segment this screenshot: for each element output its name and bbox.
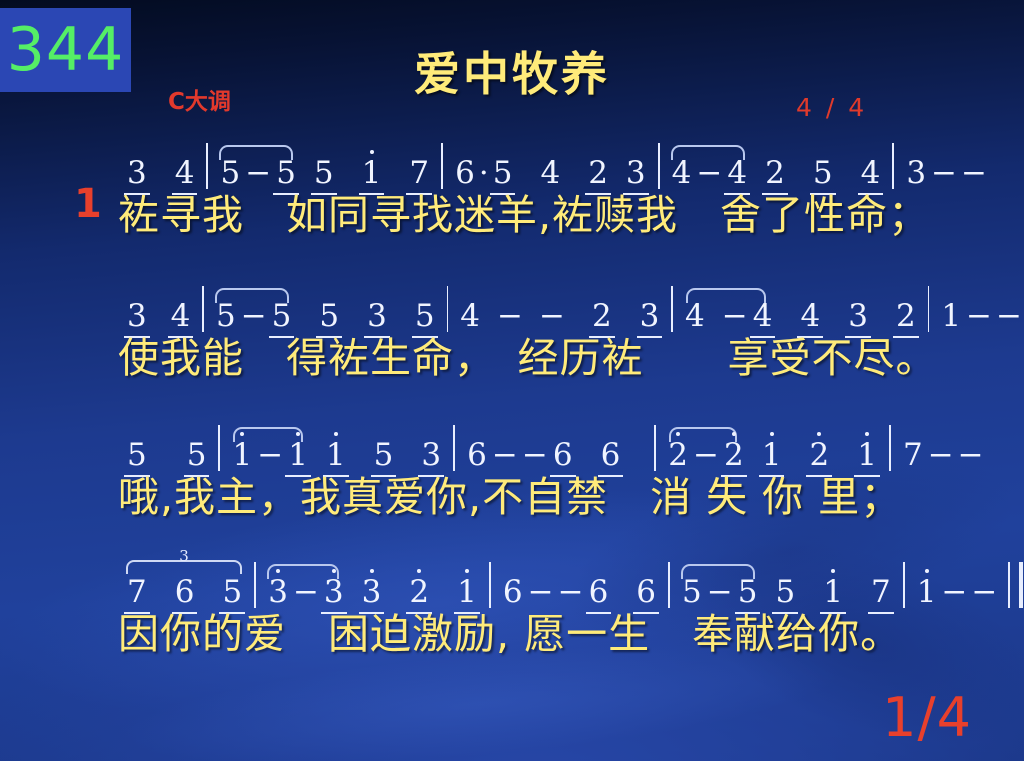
lyrics-line-2: 使我能 得袏生命， 经历袏 享受不尽。 — [0, 333, 1024, 383]
note: 5 — [124, 439, 150, 472]
barline — [453, 425, 455, 471]
note: 4 — [537, 157, 563, 190]
note-dash: − — [243, 157, 273, 190]
lyrics-line-1: 袏寻我 如同寻找迷羊,袏赎我 舍了性命； — [0, 190, 1024, 240]
music-system-1: 1 3 4 5 − 5 5 1 7 6 · 5 — [0, 134, 1024, 240]
note: 2 — [721, 439, 747, 472]
note: 3 — [124, 300, 150, 333]
barline — [254, 562, 256, 608]
note: 6 — [464, 439, 490, 472]
note-dash: − — [255, 439, 285, 472]
note: 2 — [406, 576, 432, 609]
note: 5 — [217, 157, 243, 190]
note: 2 — [589, 300, 615, 333]
note: 3 — [418, 439, 444, 472]
measure-2: 6 − − 6 6 — [500, 576, 659, 609]
final-barline — [1008, 562, 1023, 608]
note: 2 — [806, 439, 832, 472]
note: 2 — [893, 300, 919, 333]
note: 2 — [585, 157, 611, 190]
note: 5 — [412, 300, 438, 333]
note: 4 — [457, 300, 483, 333]
note: 3 — [321, 576, 347, 609]
note-dash: − — [520, 439, 550, 472]
note-dash: − — [495, 300, 525, 333]
note-dash: − — [939, 576, 969, 609]
note-dash: − — [959, 157, 989, 190]
note-dash: − — [694, 157, 724, 190]
barline — [202, 286, 204, 332]
barline — [218, 425, 220, 471]
barline — [668, 562, 670, 608]
note: 1 — [914, 576, 940, 609]
note: 1 — [285, 439, 311, 472]
note: 3 — [265, 576, 291, 609]
note: 6 — [550, 439, 576, 472]
barline — [892, 143, 894, 189]
note: 3 — [845, 300, 871, 333]
barline — [441, 143, 443, 189]
note: 4 — [682, 300, 708, 333]
note-dash: − — [705, 576, 735, 609]
note-dash: − — [239, 300, 269, 333]
music-system-3: 5 5 1 − 1 1 5 3 6 − − 6 — [0, 416, 1024, 522]
note-dash: − — [291, 576, 321, 609]
barline — [447, 286, 449, 332]
measure-1: 5 − 5 5 3 5 — [213, 300, 438, 333]
notation-line-2: 3 4 5 − 5 5 3 5 4 − − — [0, 277, 1024, 333]
note-dash: − — [691, 439, 721, 472]
note: 6 — [452, 157, 478, 190]
note: 1 — [759, 439, 785, 472]
page-indicator: 1/4 — [882, 686, 972, 749]
barline — [658, 143, 660, 189]
triplet-numeral: 3 — [176, 547, 192, 565]
barline — [654, 425, 656, 471]
measure-3: 4 − 4 4 3 2 — [682, 300, 919, 333]
barline — [928, 286, 930, 332]
note: 6 — [172, 576, 198, 609]
note: 4 — [858, 157, 884, 190]
note: 1 — [454, 576, 480, 609]
note-dash: − — [490, 439, 520, 472]
measure-1: 3 − 3 3 2 1 — [265, 576, 480, 609]
augmentation-dot: · — [478, 157, 490, 190]
note: 5 — [219, 576, 245, 609]
notation-line-3: 5 5 1 − 1 1 5 3 6 − − 6 — [0, 416, 1024, 472]
page-title: 爱中牧养 — [0, 38, 1024, 104]
lyrics-line-4: 因你的爱 困迫激励, 愿一生 奉献给你。 — [0, 609, 1024, 659]
triplet-bracket: 3 — [126, 560, 242, 574]
measure-4: 7 − − — [900, 439, 986, 472]
note: 5 — [213, 300, 239, 333]
note: 1 — [938, 300, 964, 333]
measure-3: 2 − 2 1 2 1 — [665, 439, 880, 472]
barline — [206, 143, 208, 189]
note: 5 — [371, 439, 397, 472]
barline — [671, 286, 673, 332]
note: 6 — [598, 439, 624, 472]
measure-4: 1 − − — [914, 576, 1000, 609]
note: 3 — [623, 157, 649, 190]
note: 4 — [797, 300, 823, 333]
note: 5 — [810, 157, 836, 190]
barline — [889, 425, 891, 471]
note-dash: − — [556, 576, 586, 609]
measure-3: 5 − 5 5 1 7 — [679, 576, 894, 609]
note: 6 — [633, 576, 659, 609]
note: 7 — [900, 439, 926, 472]
note: 3 — [364, 300, 390, 333]
measure-1: 1 − 1 1 5 3 — [229, 439, 444, 472]
note: 1 — [323, 439, 349, 472]
note: 5 — [273, 157, 299, 190]
note: 3 — [637, 300, 663, 333]
measure-2: 6 · 5 4 2 3 — [452, 157, 649, 190]
note: 4 — [750, 300, 776, 333]
notation-line-4: 3 7 6 5 3 − 3 3 2 1 — [0, 553, 1024, 609]
measure-3: 4 − 4 2 5 4 — [669, 157, 884, 190]
measure-2: 4 − − 2 3 — [457, 300, 662, 333]
lyrics-line-3: 哦,我主，我真爱你,不自禁 消 失 你 里； — [0, 472, 1024, 522]
note-dash: − — [926, 439, 956, 472]
note: 6 — [500, 576, 526, 609]
note: 1 — [359, 157, 385, 190]
note: 5 — [184, 439, 210, 472]
measure-1: 5 − 5 5 1 7 — [217, 157, 432, 190]
note: 3 — [124, 157, 150, 190]
barline — [489, 562, 491, 608]
triplet-group: 3 7 6 5 — [124, 576, 245, 609]
note: 4 — [168, 300, 194, 333]
measure-4: 1 − − — [938, 300, 1024, 333]
note: 5 — [316, 300, 342, 333]
note-dash: − — [537, 300, 567, 333]
note: 2 — [762, 157, 788, 190]
measure-2: 6 − − 6 6 — [464, 439, 645, 472]
time-signature: 4 / 4 — [796, 93, 867, 122]
note-dash: − — [994, 300, 1024, 333]
music-system-2: 3 4 5 − 5 5 3 5 4 − − — [0, 277, 1024, 383]
note-dash: − — [969, 576, 999, 609]
note: 1 — [854, 439, 880, 472]
note-dash: − — [956, 439, 986, 472]
hymn-slide: 344 爱中牧养 C大调 4 / 4 1 3 4 5 − 5 5 1 7 — [0, 0, 1024, 761]
note-dash: − — [526, 576, 556, 609]
note: 3 — [903, 157, 929, 190]
note: 2 — [665, 439, 691, 472]
note: 4 — [724, 157, 750, 190]
note: 1 — [229, 439, 255, 472]
note: 5 — [679, 576, 705, 609]
note-dash: − — [929, 157, 959, 190]
notation-line-1: 3 4 5 − 5 5 1 7 6 · 5 4 — [0, 134, 1024, 190]
note: 7 — [868, 576, 894, 609]
barline — [903, 562, 905, 608]
note: 5 — [269, 300, 295, 333]
note: 4 — [669, 157, 695, 190]
note-dash: − — [964, 300, 994, 333]
note: 1 — [820, 576, 846, 609]
note: 7 — [124, 576, 150, 609]
note-dash: − — [720, 300, 750, 333]
measure-4: 3 − − — [903, 157, 989, 190]
note: 5 — [311, 157, 337, 190]
note: 5 — [490, 157, 516, 190]
note: 3 — [359, 576, 385, 609]
music-system-4: 3 7 6 5 3 − 3 3 2 1 — [0, 553, 1024, 659]
note: 5 — [772, 576, 798, 609]
key-signature: C大调 — [168, 82, 231, 116]
note: 7 — [406, 157, 432, 190]
note: 6 — [586, 576, 612, 609]
note: 4 — [172, 157, 198, 190]
note: 5 — [735, 576, 761, 609]
